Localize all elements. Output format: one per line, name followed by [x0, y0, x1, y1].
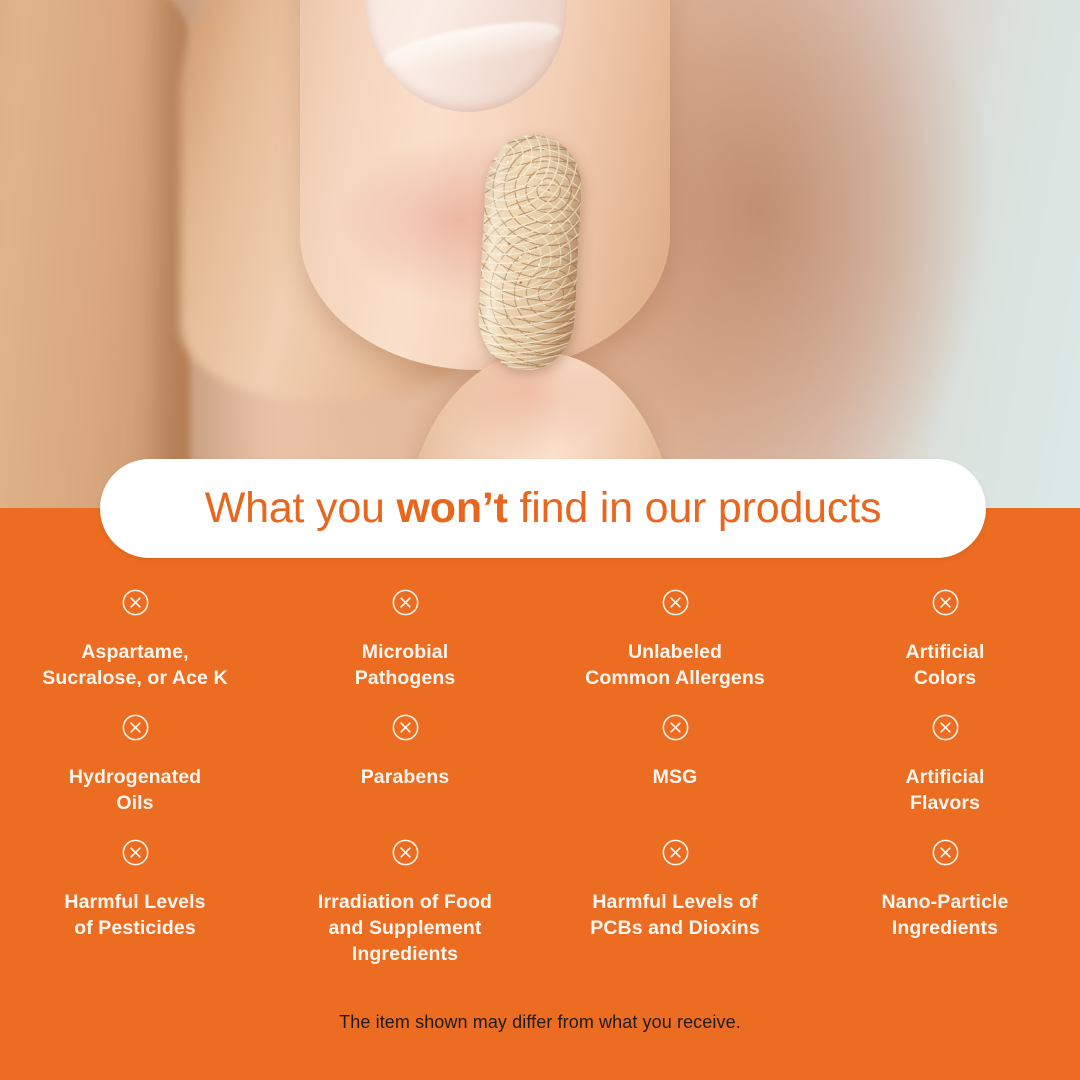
supplement-tablet: [476, 133, 584, 373]
exclusion-label: Harmful Levels of PCBs and Dioxins: [590, 889, 760, 941]
exclusion-item: Microbial Pathogens: [270, 588, 540, 713]
exclusion-item: Nano-Particle Ingredients: [810, 838, 1080, 968]
exclusion-item: Aspartame, Sucralose, or Ace K: [0, 588, 270, 713]
exclusion-item: Unlabeled Common Allergens: [540, 588, 810, 713]
exclusion-label: Hydrogenated Oils: [69, 764, 201, 816]
page-title: What you won’t find in our products: [205, 484, 882, 533]
exclusion-label: Artificial Flavors: [905, 764, 984, 816]
circle-x-icon: [931, 588, 960, 617]
exclusion-item: Parabens: [270, 713, 540, 838]
exclusion-label: Irradiation of Food and Supplement Ingre…: [318, 889, 492, 967]
exclusion-label: Parabens: [361, 764, 450, 790]
exclusion-label: Artificial Colors: [905, 639, 984, 691]
title-emphasis: won’t: [397, 484, 508, 532]
title-pill: What you won’t find in our products: [100, 459, 986, 558]
title-part-1: What you: [205, 484, 397, 532]
exclusion-item: Artificial Colors: [810, 588, 1080, 713]
exclusions-grid: Aspartame, Sucralose, or Ace KMicrobial …: [0, 588, 1080, 968]
exclusion-item: Irradiation of Food and Supplement Ingre…: [270, 838, 540, 968]
circle-x-icon: [931, 838, 960, 867]
exclusion-label: Nano-Particle Ingredients: [881, 889, 1008, 941]
exclusion-item: Harmful Levels of PCBs and Dioxins: [540, 838, 810, 968]
exclusion-item: Hydrogenated Oils: [0, 713, 270, 838]
circle-x-icon: [121, 588, 150, 617]
circle-x-icon: [121, 713, 150, 742]
exclusion-item: MSG: [540, 713, 810, 838]
exclusion-label: MSG: [653, 764, 698, 790]
exclusion-label: Unlabeled Common Allergens: [585, 639, 765, 691]
exclusion-label: Harmful Levels of Pesticides: [64, 889, 205, 941]
exclusion-label: Aspartame, Sucralose, or Ace K: [42, 639, 227, 691]
circle-x-icon: [121, 838, 150, 867]
exclusion-item: Harmful Levels of Pesticides: [0, 838, 270, 968]
disclaimer-text: The item shown may differ from what you …: [0, 1012, 1080, 1033]
exclusion-label: Microbial Pathogens: [355, 639, 456, 691]
circle-x-icon: [661, 588, 690, 617]
circle-x-icon: [391, 588, 420, 617]
title-part-2: find in our products: [508, 484, 881, 532]
circle-x-icon: [661, 838, 690, 867]
product-photo: [0, 0, 1080, 512]
exclusion-item: Artificial Flavors: [810, 713, 1080, 838]
circle-x-icon: [391, 838, 420, 867]
circle-x-icon: [931, 713, 960, 742]
circle-x-icon: [661, 713, 690, 742]
circle-x-icon: [391, 713, 420, 742]
